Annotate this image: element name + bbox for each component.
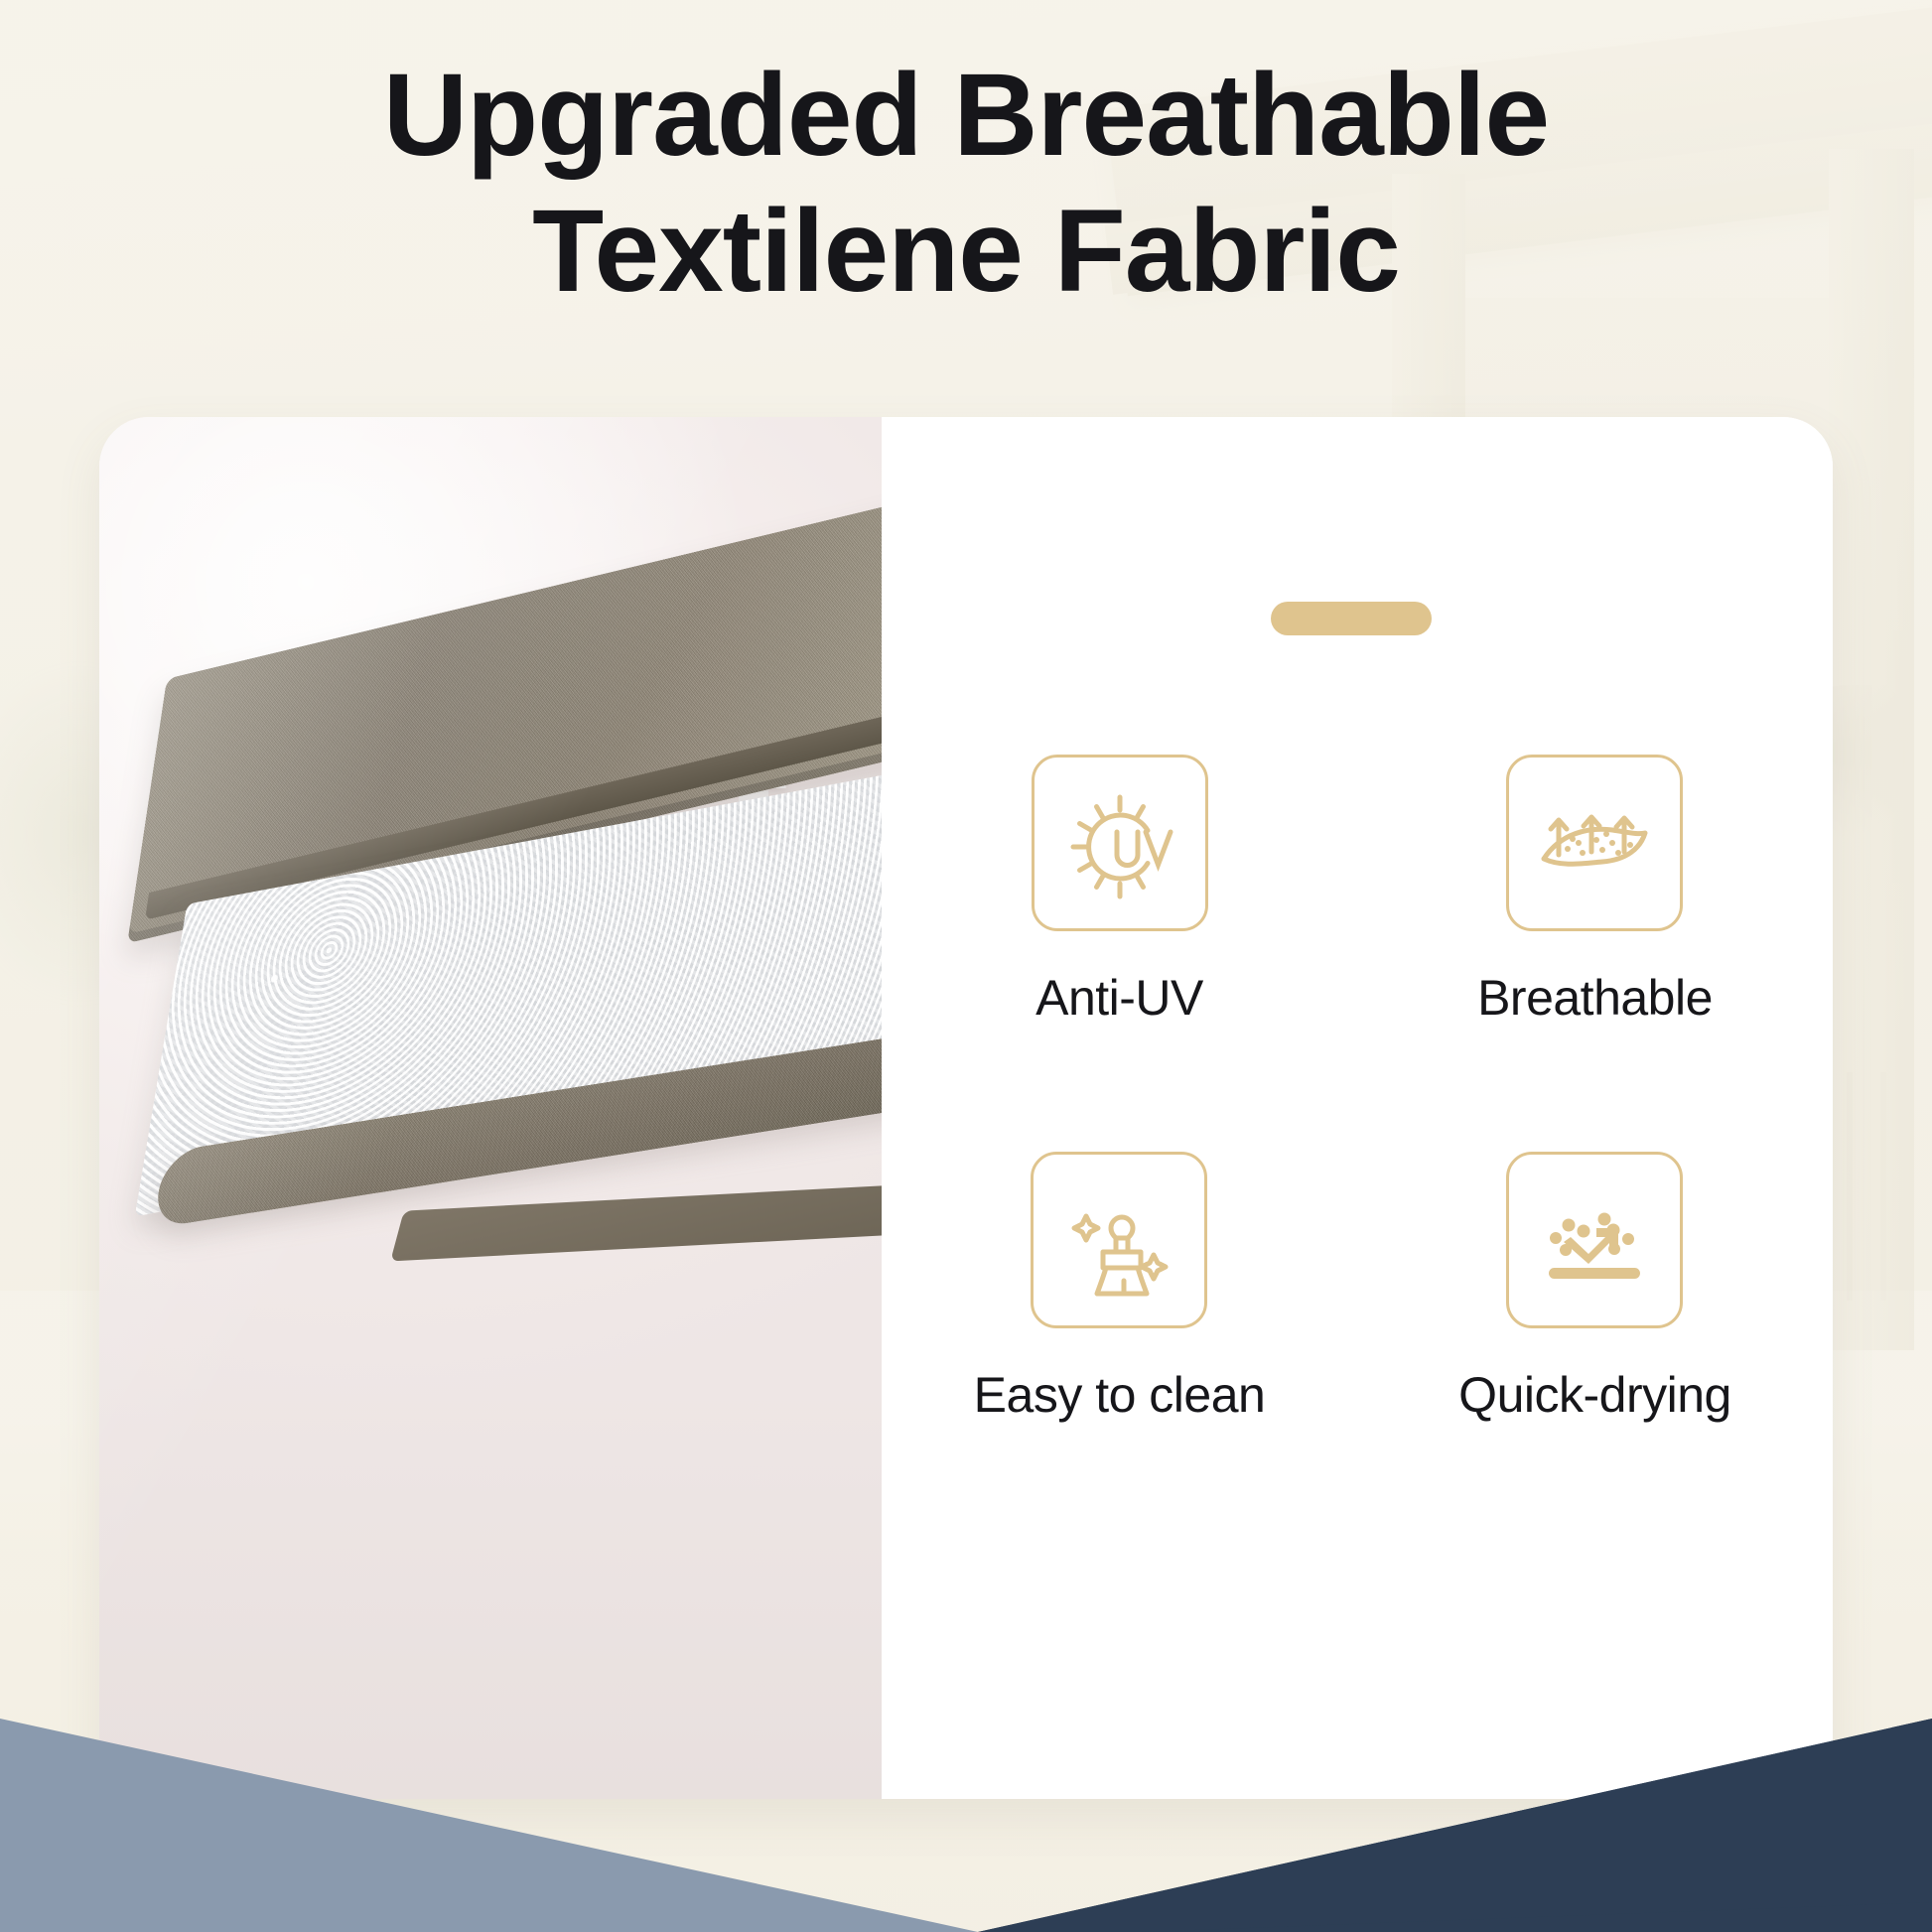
feature-icon-tile [1031,1152,1207,1328]
page-title: Upgraded Breathable Textilene Fabric [0,48,1932,320]
product-photo-panel [99,417,882,1799]
feature-item-easy-to-clean[interactable]: Easy to clean [974,1152,1266,1424]
anti-uv-icon [1060,783,1179,902]
page-title-line-1: Upgraded Breathable [0,48,1932,184]
feature-item-anti-uv[interactable]: Anti-UV [1032,755,1208,1027]
feature-label: Easy to clean [974,1366,1266,1424]
feature-grid: Anti-UV [882,755,1833,1424]
gold-accent-bar [1271,602,1432,635]
quick-drying-icon [1535,1180,1654,1300]
feature-item-breathable[interactable]: Breathable [1477,755,1713,1027]
features-panel: Anti-UV [882,417,1833,1799]
breathable-icon [1535,783,1654,902]
feature-label: Anti-UV [1035,969,1203,1027]
bottom-banner [0,1614,1932,1932]
page-title-line-2: Textilene Fabric [0,184,1932,320]
feature-icon-tile [1506,1152,1683,1328]
photo-vignette [99,417,882,1799]
feature-label: Breathable [1477,969,1713,1027]
feature-item-quick-drying[interactable]: Quick-drying [1458,1152,1731,1424]
content-card: Anti-UV [99,417,1833,1799]
feature-icon-tile [1032,755,1208,931]
banner-dark-overlap [978,1719,1932,1932]
feature-label: Quick-drying [1458,1366,1731,1424]
feature-icon-tile [1506,755,1683,931]
easy-to-clean-icon [1059,1180,1178,1300]
